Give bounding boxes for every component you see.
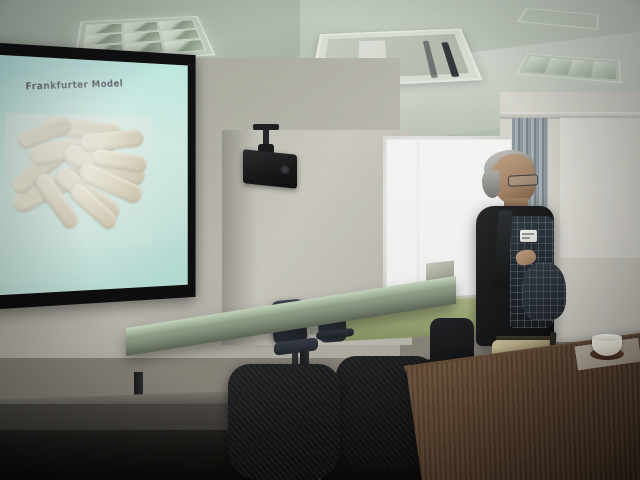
louver-cell-far <box>545 58 571 75</box>
torso-front <box>522 262 566 320</box>
louver-cell-far <box>568 59 593 77</box>
ac-louver-inner <box>423 41 438 78</box>
name-badge <box>520 230 537 242</box>
louver-cell-far <box>593 61 617 79</box>
hair-side <box>482 170 500 198</box>
projector-icon <box>243 149 297 189</box>
badge-line-1 <box>522 233 534 235</box>
projection-screen: Frankfurter Model <box>0 42 196 310</box>
ac-louver-right <box>441 42 459 77</box>
light-louver-grid-far <box>522 56 616 79</box>
projector-lens-icon <box>280 164 290 175</box>
conference-room-photo: Frankfurter Model <box>0 0 640 480</box>
projector-light-glow <box>0 54 188 295</box>
teacup-rim <box>592 334 622 341</box>
eyeglasses-icon <box>508 174 539 187</box>
badge-line-2 <box>522 237 530 239</box>
louver-cell <box>164 40 207 53</box>
mesh-chair-left[interactable] <box>228 364 340 480</box>
projection-screen-surface: Frankfurter Model <box>0 54 188 295</box>
